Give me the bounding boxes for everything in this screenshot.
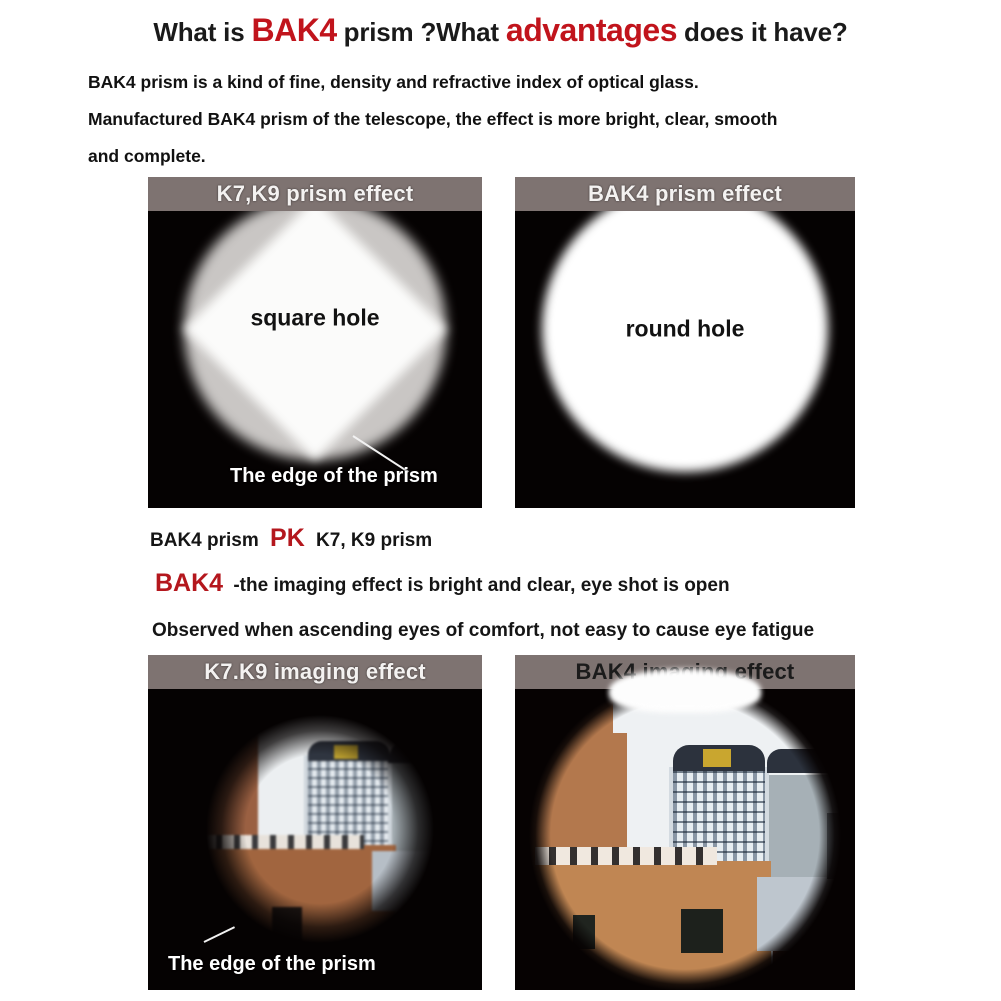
intro-paragraph: BAK4 prism is a kind of fine, density an… bbox=[88, 64, 938, 175]
intro-line-1: BAK4 prism is a kind of fine, density an… bbox=[88, 64, 938, 101]
tower-crown-right bbox=[390, 743, 454, 763]
bak4-benefit-line: BAK4 -the imaging effect is bright and c… bbox=[155, 569, 730, 598]
panel-header-label: K7,K9 prism effect bbox=[217, 181, 414, 207]
comparison-left: BAK4 prism bbox=[150, 530, 259, 551]
panel-header-band-k7k9-prism: K7,K9 prism effect bbox=[148, 177, 482, 211]
panel-bak4-imaging-effect: BAK4 imaging effect bbox=[515, 655, 855, 990]
crown-sign bbox=[334, 745, 358, 759]
title-segment-3: does it have? bbox=[677, 17, 848, 47]
panel-k7k9-prism-effect: square hole The edge of the prism K7,K9 … bbox=[148, 177, 482, 508]
field-of-view-circle bbox=[186, 695, 454, 963]
title-emphasis-advantages: advantages bbox=[506, 12, 677, 48]
lower-right-structure bbox=[757, 877, 849, 951]
tower-crown-right bbox=[767, 749, 841, 773]
rooftop-equipment-row bbox=[186, 835, 364, 849]
foreground-building-step bbox=[206, 721, 250, 751]
scope-view-k7k9: The edge of the prism bbox=[148, 689, 482, 990]
bright-circle-bleed bbox=[610, 669, 760, 709]
panel-k7k9-imaging-effect: The edge of the prism K7.K9 imaging effe… bbox=[148, 655, 482, 990]
comparison-right: K7, K9 prism bbox=[316, 530, 432, 551]
field-of-view-circle bbox=[521, 689, 849, 990]
title-emphasis-bak4: BAK4 bbox=[251, 12, 336, 48]
scope-view-bak4 bbox=[515, 689, 855, 990]
doorway bbox=[272, 907, 302, 953]
side-tower bbox=[827, 813, 849, 879]
page-title: What is BAK4 prism ?What advantages does… bbox=[0, 12, 1001, 49]
panel-bak4-prism-effect: round hole BAK4 prism effect bbox=[515, 177, 855, 508]
comfort-line: Observed when ascending eyes of comfort,… bbox=[152, 620, 814, 642]
intro-line-3: and complete. bbox=[88, 138, 938, 175]
edge-of-prism-caption: The edge of the prism bbox=[168, 953, 376, 976]
square-hole-label: square hole bbox=[250, 305, 379, 332]
bak4-brand-label: BAK4 bbox=[155, 569, 223, 597]
round-hole-label: round hole bbox=[626, 316, 745, 343]
panel-header-band-k7k9-imaging: K7.K9 imaging effect bbox=[148, 655, 482, 689]
intro-line-2: Manufactured BAK4 prism of the telescope… bbox=[88, 101, 938, 138]
pk-marker: PK bbox=[270, 524, 305, 552]
panel-header-label: BAK4 prism effect bbox=[588, 181, 782, 207]
window-center bbox=[681, 909, 723, 953]
title-segment-2: prism ?What bbox=[337, 17, 506, 47]
rooftop-parapet bbox=[521, 861, 771, 990]
title-segment-1: What is bbox=[153, 17, 251, 47]
comparison-line: BAK4 prism PK K7, K9 prism bbox=[150, 524, 432, 553]
rooftop-equipment-row bbox=[535, 847, 717, 865]
bak4-benefit-text: -the imaging effect is bright and clear,… bbox=[233, 575, 729, 596]
window-left bbox=[573, 915, 595, 949]
panel-header-label: K7.K9 imaging effect bbox=[204, 659, 426, 685]
foreground-building-step bbox=[557, 689, 613, 743]
edge-of-prism-caption: The edge of the prism bbox=[230, 465, 438, 488]
side-tower bbox=[434, 803, 454, 861]
crown-sign bbox=[703, 749, 731, 767]
foreground-building-upper bbox=[521, 733, 627, 865]
panel-header-band-bak4-prism: BAK4 prism effect bbox=[515, 177, 855, 211]
